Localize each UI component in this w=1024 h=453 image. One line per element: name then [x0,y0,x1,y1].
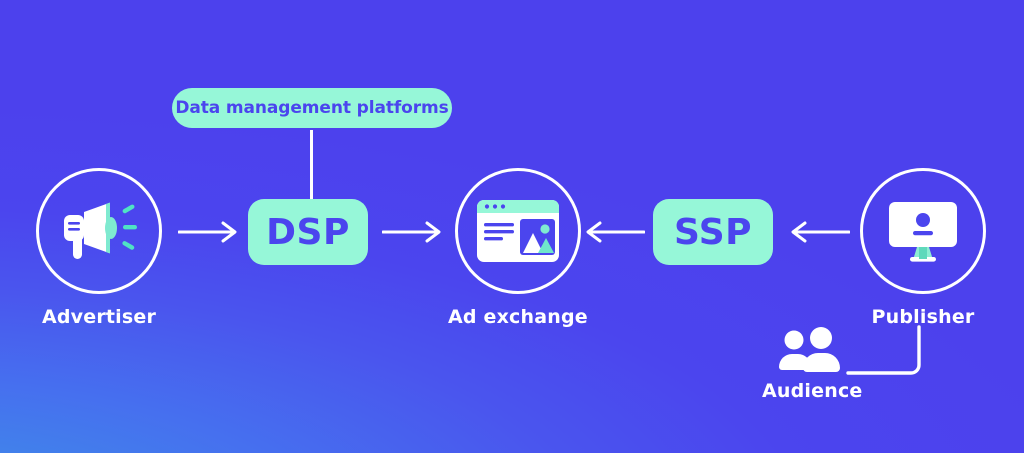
node-publisher[interactable]: Publisher [860,168,986,328]
audience-label: Audience [762,380,863,402]
node-ad-exchange[interactable]: Ad exchange [448,168,588,328]
monitor-user-icon [883,196,963,266]
browser-ad-icon [475,196,561,266]
publisher-circle [860,168,986,294]
arrow-advertiser-to-dsp [178,219,240,245]
advertiser-label: Advertiser [42,306,156,328]
ad-exchange-circle [455,168,581,294]
node-dsp[interactable]: DSP [248,199,368,265]
megaphone-icon [60,199,138,263]
advertiser-circle [36,168,162,294]
node-data-management-platforms[interactable]: Data management platforms [172,88,452,128]
ad-exchange-label: Ad exchange [448,306,588,328]
node-ssp[interactable]: SSP [653,199,773,265]
ssp-label: SSP [674,212,752,253]
dsp-label: DSP [266,212,350,253]
connector-audience-to-publisher [845,325,935,380]
people-icon [775,327,849,373]
diagram-canvas: Data management platforms [0,0,1024,453]
node-advertiser[interactable]: Advertiser [36,168,162,328]
arrow-publisher-to-ssp [788,219,850,245]
arrow-dsp-to-ad-exchange [382,219,444,245]
arrow-ssp-to-ad-exchange [583,219,645,245]
connector-dmp-to-dsp [310,130,313,199]
dmp-label: Data management platforms [175,98,448,118]
